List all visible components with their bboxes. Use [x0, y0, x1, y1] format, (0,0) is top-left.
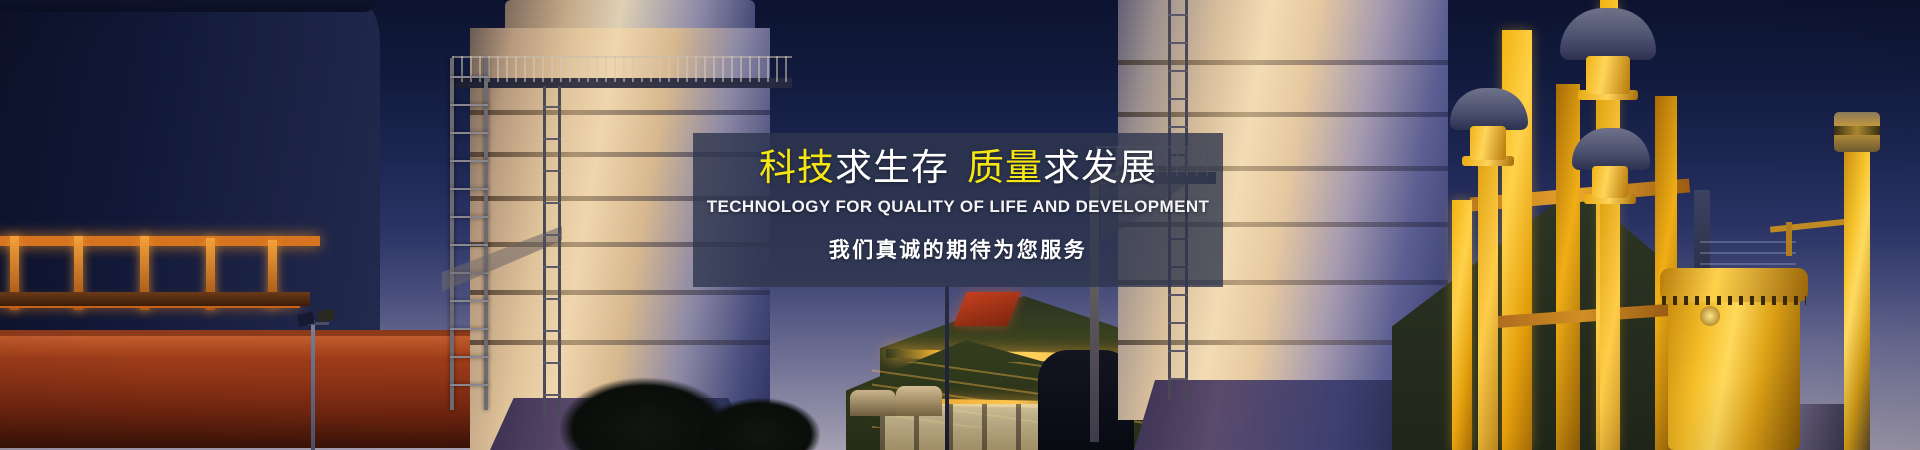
headline-segment-3: 质量	[967, 146, 1043, 189]
banner-headline: 科技求生存质量求发展	[693, 147, 1223, 188]
banner-tagline: 我们真诚的期待为您服务	[693, 234, 1223, 264]
headline-segment-2: 求生存	[835, 146, 949, 189]
banner-subline: TECHNOLOGY FOR QUALITY OF LIFE AND DEVEL…	[693, 197, 1223, 217]
hero-banner: 科技求生存质量求发展 TECHNOLOGY FOR QUALITY OF LIF…	[0, 0, 1920, 450]
banner-text-overlay: 科技求生存质量求发展 TECHNOLOGY FOR QUALITY OF LIF…	[693, 133, 1223, 287]
headline-segment-1: 科技	[759, 146, 835, 189]
headline-segment-4: 求发展	[1043, 146, 1157, 189]
